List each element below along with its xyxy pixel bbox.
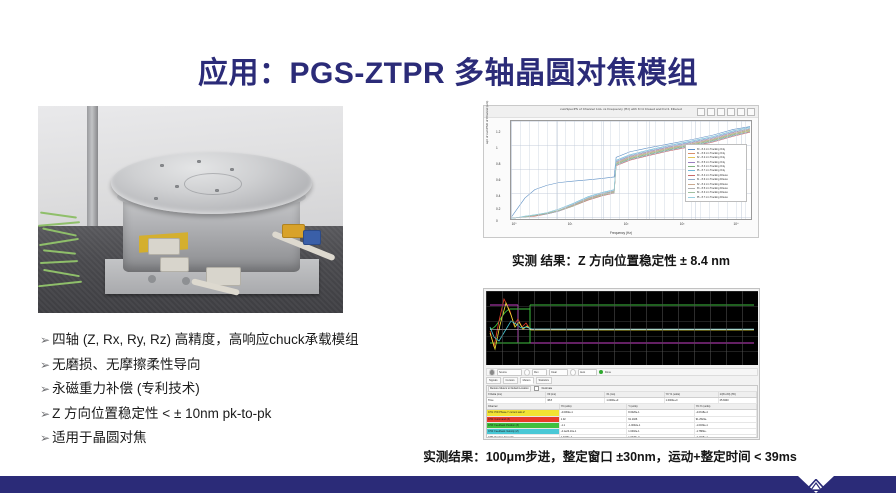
list-item-label: 适用于晶圆对焦: [52, 426, 147, 451]
list-item-label: Z 方向位置稳定性 < ± 10nm pk-to-pk: [52, 402, 271, 427]
legend-swatch: [688, 197, 695, 198]
legend-label: Z4 - 8.3 nm Tracking Filtered: [697, 191, 729, 194]
save-icon[interactable]: [717, 108, 725, 116]
photo-hole: [175, 185, 179, 188]
y-tick: 1: [496, 146, 498, 150]
legend-label: Z5 - 8.7 nm Tracking Only: [697, 169, 726, 172]
list-item-label: 无磨损、无摩擦柔性导向: [52, 353, 201, 378]
tab-cursors[interactable]: Cursors: [503, 377, 518, 384]
table-cell-y: 8.0026e-1: [627, 410, 695, 415]
summary-val-4: 25.8440: [719, 398, 757, 403]
legend-swatch: [688, 166, 695, 167]
bullet-arrow-icon: ➢: [40, 426, 50, 451]
table-cell-delta: -1.7882e-: [695, 429, 757, 434]
x-tick: 10²: [624, 222, 629, 226]
plot-window-title: cumSpecPS of Channel 1mL vs Frequency (H…: [560, 107, 682, 111]
table-cell-y0: -1.1: [560, 423, 628, 428]
table-cell-delta: -2.1406e-1: [695, 435, 757, 438]
decimate-label: Decimate: [542, 387, 553, 390]
photo-hole: [215, 189, 219, 192]
legend-swatch: [688, 179, 695, 180]
table-row[interactable]: CH5: Position Error (Z)1.0748e-41.0748e-…: [487, 435, 757, 438]
restore-meters-button[interactable]: Restore Meters to Default Location: [488, 386, 531, 392]
source-select[interactable]: Source: [497, 369, 522, 376]
table-cell-y0: -4.0062e-1: [560, 410, 628, 415]
photo-connector: [160, 257, 189, 271]
status-label: Done: [605, 371, 611, 374]
summary-col-2: X1 (ms): [605, 392, 664, 397]
trigger-icon[interactable]: [570, 369, 576, 376]
page-title: 应用：PGS-ZTPR 多轴晶圆对焦模组: [0, 48, 896, 92]
legend-swatch: [688, 170, 695, 171]
right-column: cumSpecPS of Channel 1mL vs Frequency (H…: [483, 105, 759, 238]
legend-label: Z3 - 8.5 nm Tracking Filtered: [697, 187, 729, 190]
summary-col-4: 1/(X1-X0) (Hz): [719, 392, 757, 397]
table-cell-channel: CH3: Feedback Position (Z): [487, 423, 560, 428]
summary-val-3: 1.0000e+0: [665, 398, 719, 403]
zoom-icon[interactable]: [707, 108, 715, 116]
legend-label: Z1 - 8.6 nm Tracking Filtered: [697, 178, 729, 181]
legend-swatch: [688, 162, 695, 163]
legend-label: Z4 - 8.3 nm Tracking Only: [697, 165, 726, 168]
photo-gold-fitting: [282, 224, 305, 238]
table-cell-y: -1.0002e-1: [627, 423, 695, 428]
plot-toolbar[interactable]: [697, 108, 755, 116]
clear-button[interactable]: Clear: [549, 369, 568, 376]
list-item: ➢ 无磨损、无摩擦柔性导向: [40, 353, 440, 378]
list-item-label: 四轴 (Z, Rx, Ry, Rz) 高精度，高响应chuck承载模组: [52, 328, 359, 353]
y-tick: 0.4: [496, 194, 500, 198]
photo-hole: [160, 164, 164, 167]
delta-triangle-logo: [805, 479, 827, 491]
legend-label: Z2 - 8.2 nm Tracking Only: [697, 156, 726, 159]
table-cell-y0: 1.0748e-4: [560, 435, 628, 438]
bullet-arrow-icon: ➢: [40, 328, 50, 353]
table-cell-y: 1.0748e-3: [627, 435, 695, 438]
photo-cable-bundle: [38, 205, 130, 313]
slide-footer: [0, 476, 896, 493]
mode-select[interactable]: Auto: [578, 369, 597, 376]
list-item: ➢ 永磁重力补偿 (专利技术): [40, 377, 440, 402]
legend-swatch: [688, 192, 695, 193]
y-tick: 0.8: [496, 162, 500, 166]
x-tick: 10¹: [568, 222, 573, 226]
legend-icon[interactable]: [747, 108, 755, 116]
table-cell-delta: -4.0318e-4: [695, 410, 757, 415]
legend-label: Z5 - 8.7 nm Tracking Filtered: [697, 196, 729, 199]
table-cell-y: 1.0402e-1: [627, 429, 695, 434]
summary-col-3: Y0 Y1 (units): [665, 392, 719, 397]
y-tick: 1.2: [496, 130, 500, 134]
table-cell-y0: 1.02: [560, 417, 628, 422]
photo-blue-fitting: [303, 230, 320, 244]
scope-tab-bar[interactable]: Signals Cursors Meters Statistics: [486, 378, 758, 384]
summary-val-2: 1.0000e+0: [605, 398, 664, 403]
photo-hole: [154, 197, 158, 200]
tab-statistics[interactable]: Statistics: [536, 377, 552, 384]
photo-connector: [148, 238, 181, 254]
plot-canvas[interactable]: Z0 - 8.4 nm Tracking OnlyZ1 - 8.6 nm Tra…: [510, 120, 752, 220]
record-icon[interactable]: [489, 369, 495, 376]
table-cell-delta: -1.0032e-1: [695, 423, 757, 428]
y-tick: 0.6: [496, 178, 500, 182]
table-cell-channel: CH1: PID Phase-Y current axis Z: [487, 410, 560, 415]
figure1-caption: 实测 结果：Z 方向位置稳定性 ± 8.4 nm: [483, 250, 759, 269]
photo-chuck-disc: [111, 152, 312, 214]
legend-label: Z0 - 8.4 nm Tracking Only: [697, 148, 726, 151]
list-item-label: 永磁重力补偿 (专利技术): [52, 377, 200, 402]
list-item: ➢ 四轴 (Z, Rx, Ry, Rz) 高精度，高响应chuck承载模组: [40, 328, 440, 353]
photo-hole: [197, 160, 201, 163]
table-cell-channel: CH5: Position Error (Z): [487, 435, 560, 438]
channel-col-0: Channel: [487, 404, 560, 409]
pan-icon[interactable]: [697, 108, 705, 116]
list-item: ➢ Z 方向位置稳定性 < ± 10nm pk-to-pk: [40, 402, 440, 427]
scope-toolbar[interactable]: Source Run Clear Auto Done: [486, 368, 758, 376]
cursor-icon[interactable]: [737, 108, 745, 116]
scope-grid: [486, 291, 758, 365]
legend-label: Z3 - 8.5 nm Tracking Only: [697, 161, 726, 164]
cas-plot-window: cumSpecPS of Channel 1mL vs Frequency (H…: [483, 105, 759, 238]
summary-col-1: X0 (ms): [546, 392, 605, 397]
channel-col-3: Y0-Y1 (units): [695, 404, 757, 409]
x-axis-label: Frequency (Hz): [610, 231, 632, 235]
legend-item: Z5 - 8.7 nm Tracking Filtered: [688, 195, 744, 199]
plot-title-bar: cumSpecPS of Channel 1mL vs Frequency (H…: [484, 106, 758, 118]
channel-rows: CH1: PID Phase-Y current axis Z-4.0062e-…: [487, 410, 757, 438]
x-tick: 10⁴: [734, 222, 739, 226]
table-cell-y: 91.1026: [627, 417, 695, 422]
bullet-arrow-icon: ➢: [40, 377, 50, 402]
table-cell-channel: CH2: Command (Z): [487, 417, 560, 422]
status-dot-icon: [599, 370, 603, 374]
legend-swatch: [688, 153, 695, 154]
channel-col-1: Y0 (units): [560, 404, 628, 409]
table-cell-delta: 91.2524e-: [695, 417, 757, 422]
legend-swatch: [688, 188, 695, 189]
meters-table[interactable]: Restore Meters to Default Location Decim…: [486, 385, 758, 438]
decimate-checkbox[interactable]: [534, 386, 539, 391]
run-button[interactable]: Run: [532, 369, 547, 376]
tab-meters[interactable]: Meters: [520, 377, 534, 384]
figure2-caption: 实测结果：100μm步进，整定窗口 ±30nm，运动+整定时间 < 39ms: [360, 446, 860, 465]
legend-swatch: [688, 184, 695, 185]
y-tick: 0: [496, 219, 498, 223]
y-axis-label: sqrt of cumPSD of Channel (um): [485, 101, 489, 144]
table-cell-channel: CH4: Feedback Velocity (Z): [487, 429, 560, 434]
channel-col-2: Y (units): [627, 404, 695, 409]
legend-swatch: [688, 157, 695, 158]
product-photo: [38, 106, 343, 313]
legend-label: Z1 - 8.6 nm Tracking Only: [697, 152, 726, 155]
legend-label: Z2 - 8.2 nm Tracking Filtered: [697, 183, 729, 186]
legend-swatch: [688, 175, 695, 176]
scope-capture-window: Time (ms) Source Run Clear Auto Done Sig…: [483, 288, 760, 440]
feature-bullet-list: ➢ 四轴 (Z, Rx, Ry, Rz) 高精度，高响应chuck承载模组 ➢ …: [40, 328, 440, 451]
table-cell-y0: -4.1e24.10e-1: [560, 429, 628, 434]
summary-col-0: X Delta (ms): [487, 392, 546, 397]
bullet-arrow-icon: ➢: [40, 402, 50, 427]
x-tick: 10³: [680, 222, 685, 226]
slide-root: 应用：PGS-ZTPR 多轴晶圆对焦模组: [0, 0, 896, 493]
plot-legend[interactable]: Z0 - 8.4 nm Tracking OnlyZ1 - 8.6 nm Tra…: [685, 144, 747, 202]
scope-display[interactable]: [486, 291, 758, 365]
y-tick: 0.2: [496, 207, 500, 211]
summary-val-0: Time: [487, 398, 546, 403]
tab-signals[interactable]: Signals: [486, 377, 501, 384]
legend-label: Z0 - 8.4 nm Tracking Filtered: [697, 174, 729, 177]
print-icon[interactable]: [727, 108, 735, 116]
legend-swatch: [688, 149, 695, 150]
x-tick: 10⁰: [512, 222, 517, 226]
summary-val-1: 38.8: [546, 398, 605, 403]
bullet-arrow-icon: ➢: [40, 353, 50, 378]
settings-icon[interactable]: [524, 369, 530, 376]
